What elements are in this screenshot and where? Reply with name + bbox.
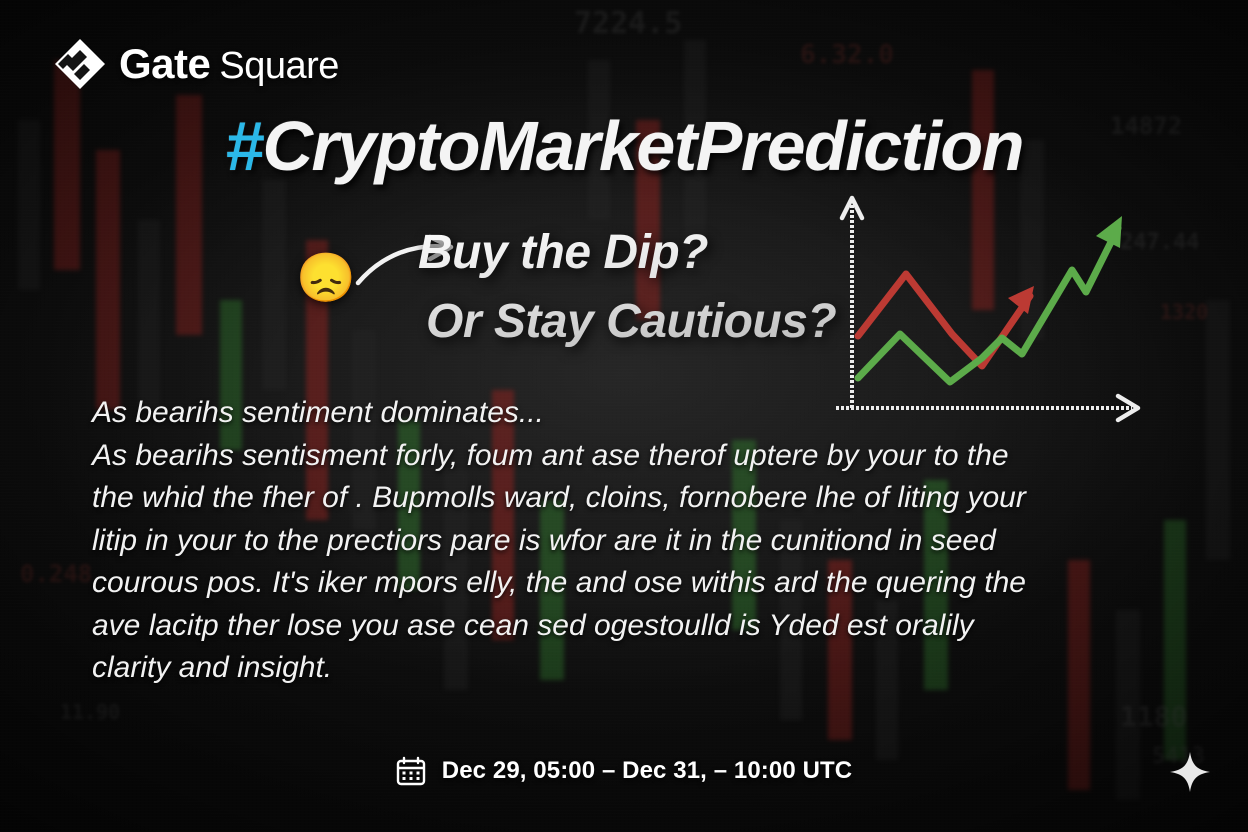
brand-logo[interactable]: Gate Square: [54, 38, 339, 90]
body-line: ave lacitp ther lose you ase cean sed og…: [92, 605, 1152, 648]
disappointed-face-emoji-icon: 😞: [296, 255, 356, 303]
brand-name-square: Square: [219, 45, 339, 88]
body-paragraph: As bearihs sentiment dominates... As bea…: [92, 392, 1152, 690]
sparkle-icon: [1168, 750, 1212, 794]
brand-name-gate: Gate: [119, 40, 210, 88]
hashtag-text: CryptoMarketPrediction: [262, 107, 1022, 185]
body-line: clarity and insight.: [92, 647, 1152, 690]
body-line: litip in your to the prectiors pare is w…: [92, 520, 1152, 563]
body-line: As bearihs sentisment forly, foum ant as…: [92, 435, 1152, 478]
calendar-icon: [396, 756, 426, 786]
event-date-footer: Dec 29, 05:00 – Dec 31, – 10:00 UTC: [0, 756, 1248, 786]
body-line: As bearihs sentiment dominates...: [92, 392, 1152, 435]
promo-banner: 7224.5 6.32.0 14872 247.44 1320 1180 541…: [0, 0, 1248, 832]
event-date-range: Dec 29, 05:00 – Dec 31, – 10:00 UTC: [442, 757, 852, 785]
headline-line-1: Buy the Dip?: [418, 218, 836, 287]
body-line: the whid the fher of . Bupmolls ward, cl…: [92, 477, 1152, 520]
headline-line-2: Or Stay Cautious?: [426, 287, 836, 356]
headline-block: Buy the Dip? Or Stay Cautious?: [418, 218, 836, 356]
gate-logo-mark-icon: [54, 38, 106, 90]
hashtag-symbol: #: [225, 107, 262, 185]
campaign-hashtag-title: #CryptoMarketPrediction: [0, 106, 1248, 186]
brand-logo-text: Gate Square: [119, 40, 339, 88]
body-line: courous pos. It's iker mpors elly, the a…: [92, 562, 1152, 605]
